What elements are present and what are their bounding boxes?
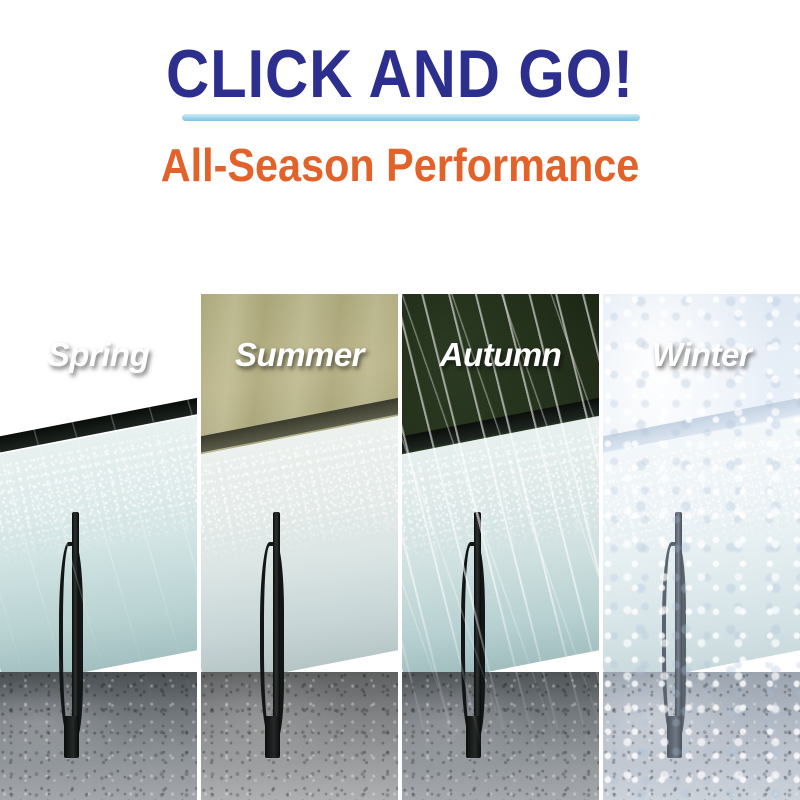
seasons-promo-banner: CLICK AND GO! All-Season Performance Spr… bbox=[0, 0, 800, 800]
season-label-winter: Winter bbox=[603, 336, 800, 374]
season-panel-spring[interactable]: Spring bbox=[0, 294, 197, 800]
season-panel-summer[interactable]: Summer bbox=[201, 294, 398, 800]
page-title: CLICK AND GO! bbox=[48, 38, 752, 110]
summer-hood-speckle-texture bbox=[201, 672, 398, 800]
season-panel-autumn[interactable]: Autumn bbox=[402, 294, 599, 800]
title-underline-rule bbox=[182, 114, 640, 121]
wiper-blade-body bbox=[260, 542, 284, 740]
summer-wiper-blade bbox=[259, 512, 285, 752]
season-panel-strip: Spring Summer bbox=[0, 294, 800, 800]
page-subtitle: All-Season Performance bbox=[40, 138, 760, 192]
wiper-pivot-foot bbox=[265, 716, 280, 758]
header-section: CLICK AND GO! All-Season Performance bbox=[0, 0, 800, 294]
season-label-spring: Spring bbox=[0, 336, 197, 374]
season-label-autumn: Autumn bbox=[402, 336, 599, 374]
season-panel-winter[interactable]: Winter bbox=[603, 294, 800, 800]
season-label-summer: Summer bbox=[201, 336, 398, 374]
